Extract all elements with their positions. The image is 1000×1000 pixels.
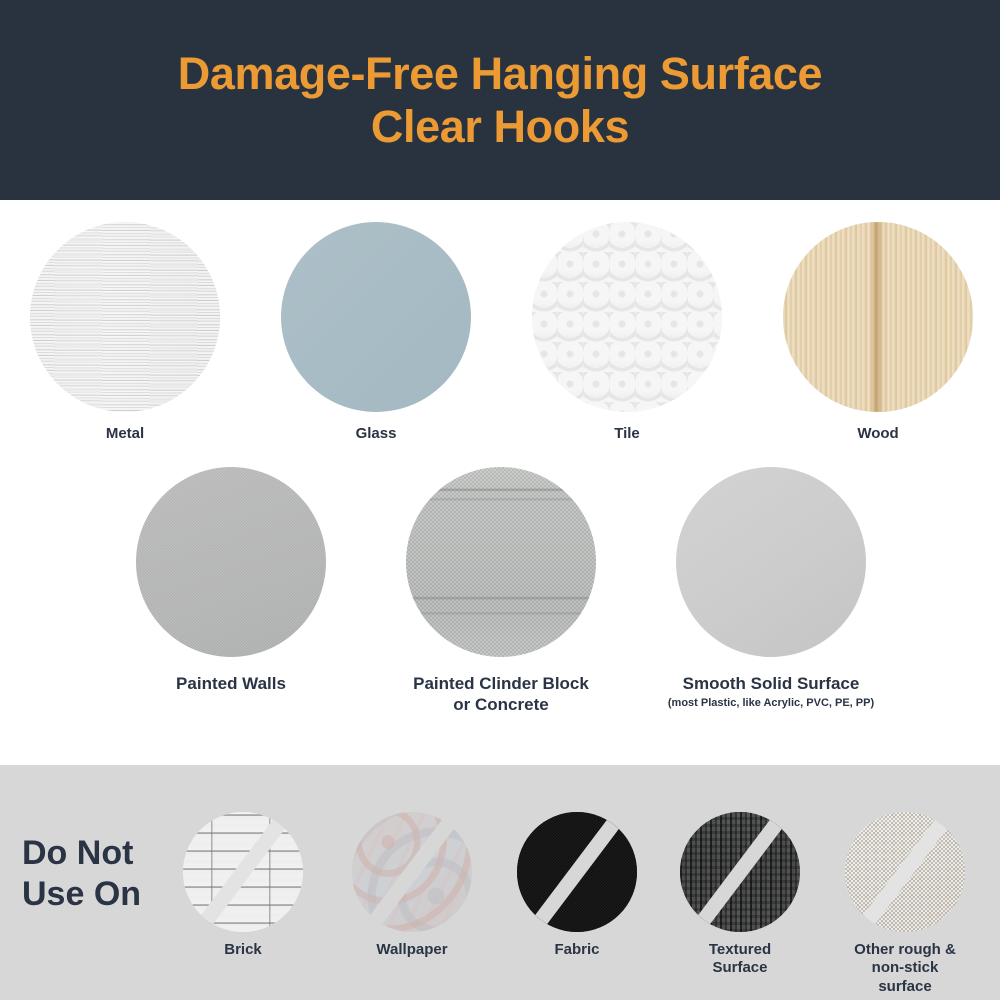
forbidden-label-brick: Brick (224, 941, 262, 959)
surface-label-glass: Glass (356, 425, 397, 443)
surface-label-smooth-solid: Smooth Solid Surface (683, 674, 860, 695)
tile-texture-icon (532, 222, 722, 412)
surface-card-tile[interactable]: Tile (532, 222, 722, 443)
surface-card-glass[interactable]: Glass (281, 222, 471, 443)
glass-swatch (281, 222, 471, 412)
do-not-use-title: Do Not Use On (22, 833, 141, 916)
forbidden-card-rough-surface[interactable]: Other rough & non-stick surface (845, 812, 965, 996)
forbidden-label-rough-surface: Other rough & non-stick surface (845, 941, 965, 996)
surface-label-painted-walls: Painted Walls (176, 674, 286, 695)
surface-card-wood[interactable]: Wood (783, 222, 973, 443)
rough-surface-texture-icon (845, 812, 965, 932)
surface-card-painted-walls[interactable]: Painted Walls (136, 467, 326, 695)
smooth-solid-swatch (676, 467, 866, 657)
allowed-surfaces-section: Metal Glass Tile Wood Painted Walls Pain… (0, 200, 1000, 765)
surface-sublabel-smooth-solid: (most Plastic, like Acrylic, PVC, PE, PP… (668, 697, 874, 709)
rough-surface-swatch (845, 812, 965, 932)
wood-texture-icon (783, 222, 973, 412)
forbidden-card-fabric[interactable]: Fabric (517, 812, 637, 959)
forbidden-card-textured-surface[interactable]: Textured Surface (680, 812, 800, 978)
concrete-swatch (406, 467, 596, 657)
painted-wall-swatch (136, 467, 326, 657)
forbidden-label-wallpaper: Wallpaper (376, 941, 447, 959)
forbidden-card-wallpaper[interactable]: Wallpaper (352, 812, 472, 959)
surface-card-metal[interactable]: Metal (30, 222, 220, 443)
smooth-solid-texture-icon (676, 467, 866, 657)
fabric-swatch (517, 812, 637, 932)
header-banner: Damage-Free Hanging Surface Clear Hooks (0, 0, 1000, 200)
surface-label-concrete: Painted Clinder Block or Concrete (413, 674, 589, 715)
surface-label-metal: Metal (106, 425, 144, 443)
surface-card-smooth-solid[interactable]: Smooth Solid Surface (most Plastic, like… (676, 467, 866, 709)
surface-label-wood: Wood (857, 425, 898, 443)
surface-card-concrete[interactable]: Painted Clinder Block or Concrete (406, 467, 596, 715)
wallpaper-swatch (352, 812, 472, 932)
forbidden-card-brick[interactable]: Brick (183, 812, 303, 959)
metal-texture-icon (30, 222, 220, 412)
painted-wall-texture-icon (136, 467, 326, 657)
forbidden-label-fabric: Fabric (554, 941, 599, 959)
forbidden-label-textured-surface: Textured Surface (709, 941, 771, 978)
glass-texture-icon (281, 222, 471, 412)
textured-surface-swatch (680, 812, 800, 932)
wallpaper-texture-icon (352, 812, 472, 932)
brick-texture-icon (183, 812, 303, 932)
brick-swatch (183, 812, 303, 932)
tile-swatch (532, 222, 722, 412)
textured-surface-texture-icon (680, 812, 800, 932)
surface-label-tile: Tile (614, 425, 640, 443)
metal-swatch (30, 222, 220, 412)
page-title: Damage-Free Hanging Surface Clear Hooks (178, 47, 822, 153)
wood-swatch (783, 222, 973, 412)
fabric-texture-icon (517, 812, 637, 932)
concrete-texture-icon (406, 467, 596, 657)
